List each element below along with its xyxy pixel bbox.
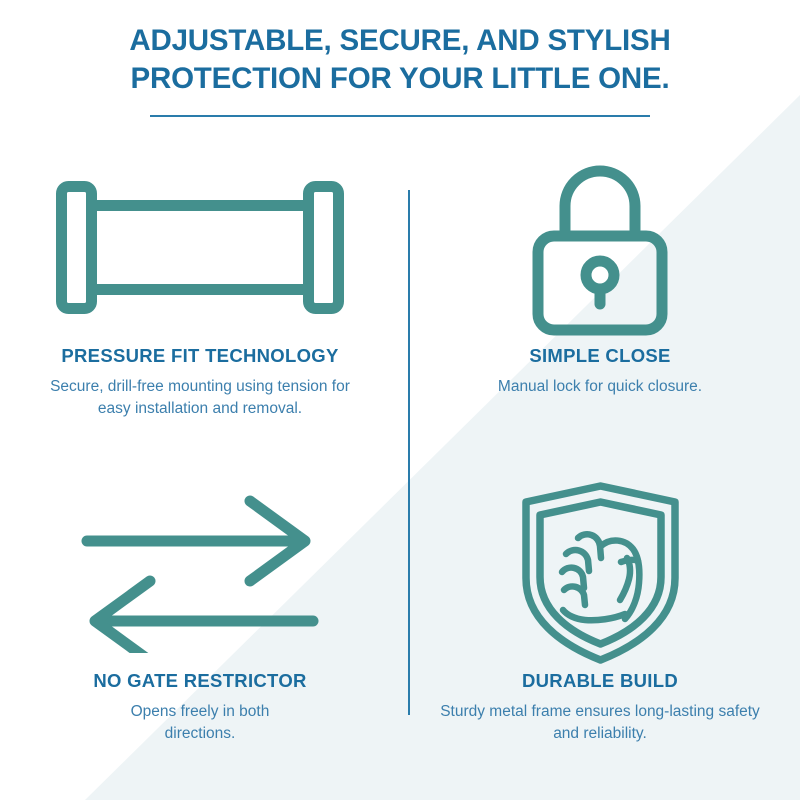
shield-fist-icon <box>513 478 688 668</box>
infographic-poster: ADJUSTABLE, SECURE, AND STYLISH PROTECTI… <box>0 0 800 800</box>
feature-card-pressure-fit-technology: PRESSURE FIT TECHNOLOGY Secure, drill-fr… <box>0 150 400 420</box>
feature-card-no-gate-restrictor: NO GATE RESTRICTOR Opens freely in both … <box>0 475 400 745</box>
feature-card-durable-build: DURABLE BUILD Sturdy metal frame ensures… <box>400 475 800 745</box>
feature-description: Sturdy metal frame ensures long-lasting … <box>430 701 770 745</box>
two-way-arrows-icon <box>75 493 325 653</box>
feature-description: Secure, drill-free mounting using tensio… <box>35 376 365 420</box>
header-divider <box>150 115 650 117</box>
page-title-line-1: ADJUSTABLE, SECURE, AND STYLISH <box>60 22 740 60</box>
feature-title: SIMPLE CLOSE <box>400 345 800 367</box>
feature-title: NO GATE RESTRICTOR <box>0 670 400 692</box>
feature-grid: PRESSURE FIT TECHNOLOGY Secure, drill-fr… <box>0 150 800 790</box>
vertical-divider <box>408 190 410 715</box>
feature-card-simple-close: SIMPLE CLOSE Manual lock for quick closu… <box>400 150 800 398</box>
feature-description: Opens freely in both directions. <box>95 701 305 745</box>
header: ADJUSTABLE, SECURE, AND STYLISH PROTECTI… <box>0 22 800 117</box>
page-title: ADJUSTABLE, SECURE, AND STYLISH PROTECTI… <box>0 22 800 98</box>
pressure-bar-icon <box>55 180 345 315</box>
padlock-icon-wrap <box>400 150 800 345</box>
feature-title: PRESSURE FIT TECHNOLOGY <box>0 345 400 367</box>
feature-title: DURABLE BUILD <box>400 670 800 692</box>
two-way-arrows-icon-wrap <box>0 475 400 670</box>
pressure-bar-icon-wrap <box>0 150 400 345</box>
padlock-icon <box>525 158 675 338</box>
feature-description: Manual lock for quick closure. <box>440 376 760 398</box>
page-title-line-2: PROTECTION FOR YOUR LITTLE ONE. <box>60 60 740 98</box>
shield-fist-icon-wrap <box>400 475 800 670</box>
